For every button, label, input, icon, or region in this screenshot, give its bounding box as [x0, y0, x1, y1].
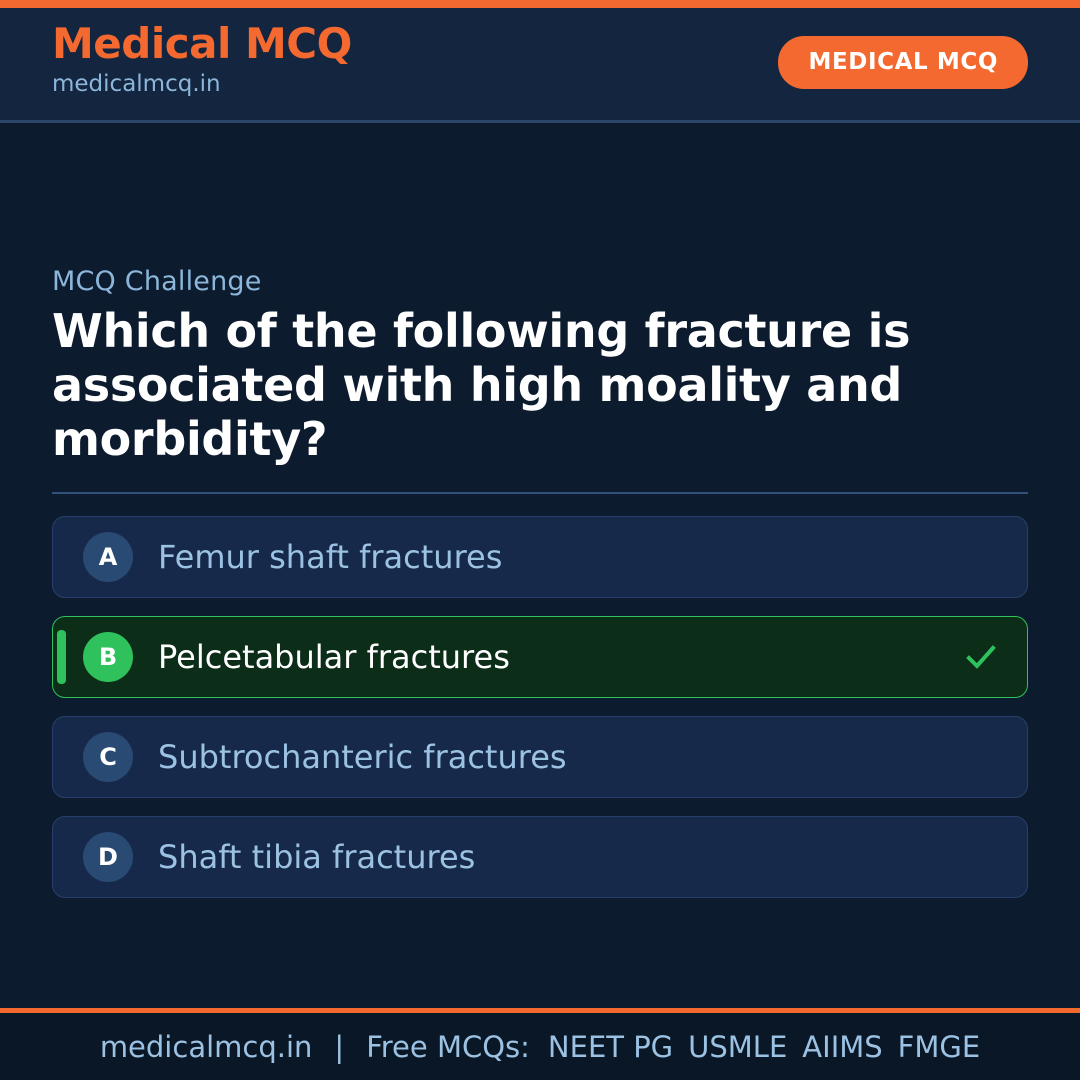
- top-accent-rule: [0, 0, 1080, 8]
- footer-exam-usmle[interactable]: USMLE: [688, 1030, 787, 1064]
- footer-separator: |: [330, 1030, 348, 1064]
- footer-exams-list: NEET PG USMLE AIIMS FMGE: [548, 1030, 980, 1064]
- option-text-c: Subtrochanteric fractures: [158, 740, 567, 775]
- footer-exam-fmge[interactable]: FMGE: [898, 1030, 981, 1064]
- footer-exam-neetpg[interactable]: NEET PG: [548, 1030, 673, 1064]
- footer-exams-label: Free MCQs:: [366, 1030, 530, 1064]
- option-text-d: Shaft tibia fractures: [158, 840, 475, 875]
- header-bar: Medical MCQ medicalmcq.in MEDICAL MCQ: [0, 8, 1080, 123]
- option-text-b: Pelcetabular fractures: [158, 640, 510, 675]
- check-icon: [961, 637, 1001, 677]
- question-divider: [52, 492, 1028, 494]
- brand-title: Medical MCQ: [52, 22, 352, 66]
- footer-exam-aiims[interactable]: AIIMS: [802, 1030, 882, 1064]
- question-text: Which of the following fracture is assoc…: [52, 305, 1028, 466]
- options-list: A Femur shaft fractures B Pelcetabular f…: [52, 516, 1028, 898]
- option-row-c[interactable]: C Subtrochanteric fractures: [52, 716, 1028, 798]
- option-letter-c: C: [83, 732, 133, 782]
- correct-accent-bar: [57, 630, 66, 684]
- option-text-a: Femur shaft fractures: [158, 540, 502, 575]
- footer-content: medicalmcq.in | Free MCQs: NEET PG USMLE…: [100, 1030, 980, 1064]
- option-row-a[interactable]: A Femur shaft fractures: [52, 516, 1028, 598]
- option-letter-a: A: [83, 532, 133, 582]
- option-letter-d: D: [83, 832, 133, 882]
- option-row-b[interactable]: B Pelcetabular fractures: [52, 616, 1028, 698]
- footer-bar: medicalmcq.in | Free MCQs: NEET PG USMLE…: [0, 1008, 1080, 1080]
- footer-site[interactable]: medicalmcq.in: [100, 1030, 313, 1064]
- brand-block: Medical MCQ medicalmcq.in: [52, 22, 352, 102]
- mcq-card: Medical MCQ medicalmcq.in MEDICAL MCQ MC…: [0, 0, 1080, 1080]
- eyebrow-label: MCQ Challenge: [52, 266, 1028, 297]
- option-letter-b: B: [83, 632, 133, 682]
- option-row-d[interactable]: D Shaft tibia fractures: [52, 816, 1028, 898]
- header-badge: MEDICAL MCQ: [778, 36, 1028, 89]
- brand-subtitle: medicalmcq.in: [52, 67, 352, 102]
- main-content: MCQ Challenge Which of the following fra…: [0, 123, 1080, 1008]
